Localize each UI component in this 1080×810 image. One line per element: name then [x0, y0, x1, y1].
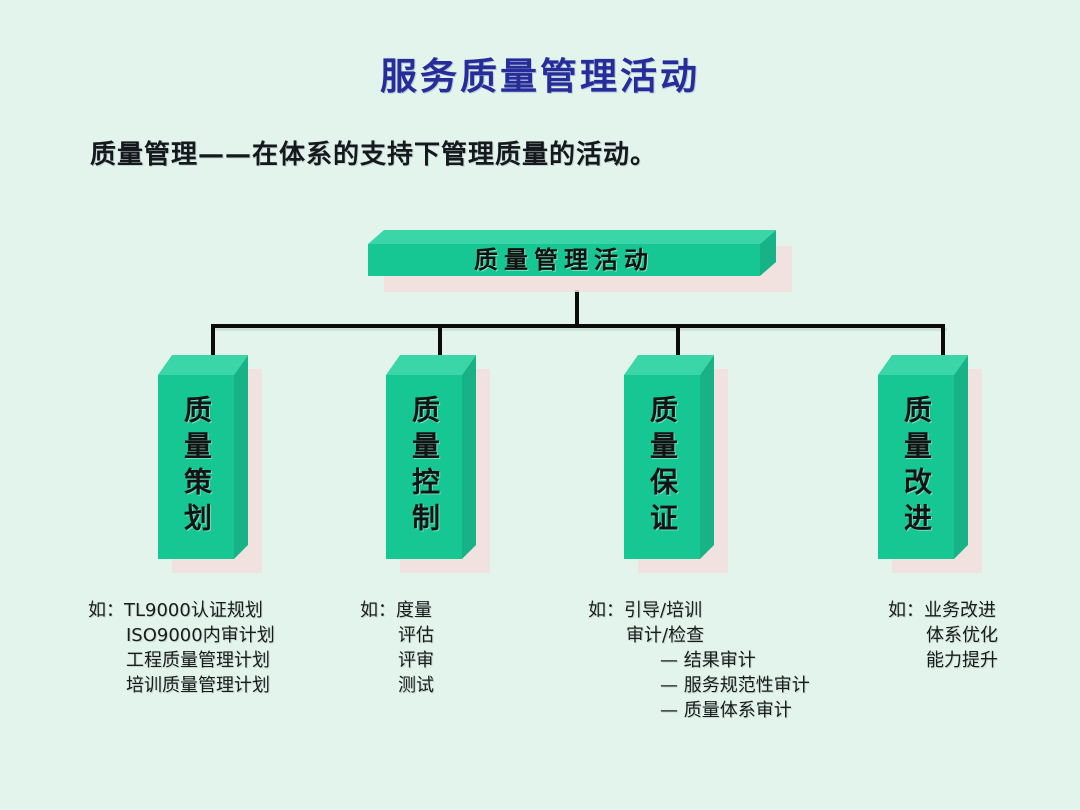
node-4-side-face — [954, 355, 968, 573]
node-1-label: 质量策划 — [158, 375, 234, 559]
node-root-label: 质量管理活动 — [368, 244, 760, 276]
node-root-front-face: 质量管理活动 — [368, 244, 760, 276]
node-quality-control[interactable]: 质量控制 — [386, 355, 490, 573]
caption-line: — 服务规范性审计 — [588, 673, 810, 698]
caption-quality-assurance: 如：引导/培训审计/检查— 结果审计— 服务规范性审计— 质量体系审计 — [588, 598, 810, 723]
node-1-top-face — [158, 355, 248, 375]
node-2-front-face: 质量控制 — [386, 375, 462, 559]
caption-line: ISO9000内审计划 — [88, 623, 275, 648]
subtitle-definition: 质量管理——在体系的支持下管理质量的活动。 — [90, 134, 657, 171]
node-3-label: 质量保证 — [624, 375, 700, 559]
node-3-side-face — [700, 355, 714, 573]
node-3-front-face: 质量保证 — [624, 375, 700, 559]
caption-line: 如：TL9000认证规划 — [88, 598, 275, 623]
node-quality-assurance[interactable]: 质量保证 — [624, 355, 728, 573]
node-root[interactable]: 质量管理活动 — [368, 230, 792, 292]
node-quality-improvement[interactable]: 质量改进 — [878, 355, 982, 573]
slide-canvas: 服务质量管理活动 质量管理——在体系的支持下管理质量的活动。 质量管理活动 质量… — [0, 0, 1080, 810]
caption-line: 工程质量管理计划 — [88, 648, 275, 673]
node-1-front-face: 质量策划 — [158, 375, 234, 559]
node-4-top-face — [878, 355, 968, 375]
connector-bus-shadow — [213, 328, 947, 331]
caption-line: 如：度量 — [360, 598, 434, 623]
caption-line: 测试 — [360, 673, 434, 698]
node-quality-planning[interactable]: 质量策划 — [158, 355, 262, 573]
caption-line: 如：业务改进 — [888, 598, 998, 623]
node-2-side-face — [462, 355, 476, 573]
connector-trunk-vertical — [575, 290, 579, 326]
node-4-label: 质量改进 — [878, 375, 954, 559]
caption-line: 体系优化 — [888, 623, 998, 648]
caption-line: 能力提升 — [888, 648, 998, 673]
caption-quality-control: 如：度量评估评审测试 — [360, 598, 434, 698]
node-2-top-face — [386, 355, 476, 375]
caption-line: 如：引导/培训 — [588, 598, 810, 623]
caption-line: 培训质量管理计划 — [88, 673, 275, 698]
caption-line: — 结果审计 — [588, 648, 810, 673]
caption-line: — 质量体系审计 — [588, 698, 810, 723]
node-1-side-face — [234, 355, 248, 573]
node-3-top-face — [624, 355, 714, 375]
node-2-label: 质量控制 — [386, 375, 462, 559]
page-title: 服务质量管理活动 — [0, 46, 1080, 100]
caption-line: 评估 — [360, 623, 434, 648]
caption-line: 审计/检查 — [588, 623, 810, 648]
node-4-front-face: 质量改进 — [878, 375, 954, 559]
caption-quality-planning: 如：TL9000认证规划ISO9000内审计划工程质量管理计划培训质量管理计划 — [88, 598, 275, 698]
caption-quality-improvement: 如：业务改进体系优化能力提升 — [888, 598, 998, 673]
caption-line: 评审 — [360, 648, 434, 673]
node-root-top-face — [368, 230, 776, 244]
